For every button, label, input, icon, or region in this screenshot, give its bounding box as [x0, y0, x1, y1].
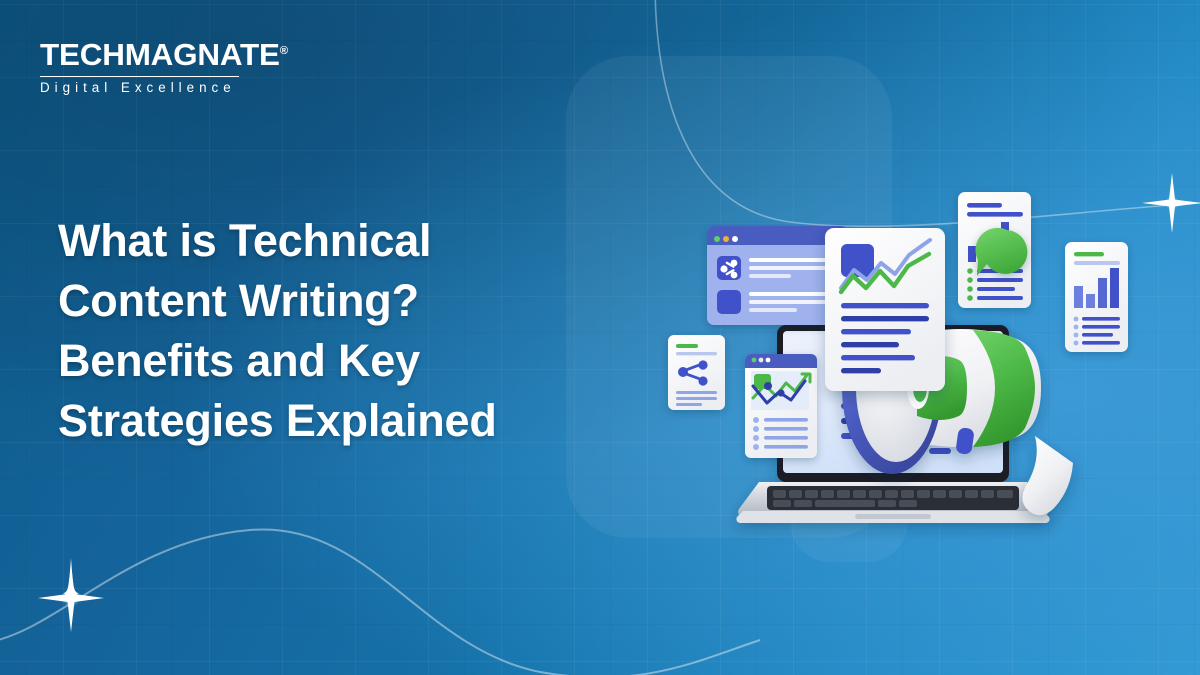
logo-wordmark: TECHMAGNATE®	[40, 40, 265, 71]
headline-line-3: Benefits and Key	[58, 331, 578, 391]
bar-chart-document-card-small	[1065, 242, 1128, 352]
headline-line-2: Content Writing?	[58, 271, 578, 331]
logo-tagline: Digital Excellence	[40, 80, 258, 97]
window-dot-yellow	[723, 236, 729, 242]
headline-line-4: Strategies Explained	[58, 391, 578, 451]
window-dot-white	[732, 236, 738, 242]
headline-line-1: What is Technical	[58, 211, 578, 271]
chart-browser-card	[745, 354, 817, 458]
sparkle-icon	[0, 558, 104, 632]
banner-canvas: TECHMAGNATE® Digital Excellence What is …	[0, 0, 1200, 675]
decorative-wave-line	[0, 529, 760, 675]
registered-trademark-icon: ®	[280, 45, 288, 57]
decorative-wave-line-2	[0, 527, 760, 675]
logo-divider	[40, 76, 239, 77]
content-marketing-illustration	[655, 170, 1200, 550]
analytics-document-card	[825, 228, 945, 391]
illustration-svg	[655, 170, 1200, 550]
window-dot-green	[714, 236, 720, 242]
page-title: What is Technical Content Writing? Benef…	[58, 211, 578, 450]
brand-logo[interactable]: TECHMAGNATE® Digital Excellence	[40, 40, 258, 96]
share-document-card	[668, 335, 725, 410]
